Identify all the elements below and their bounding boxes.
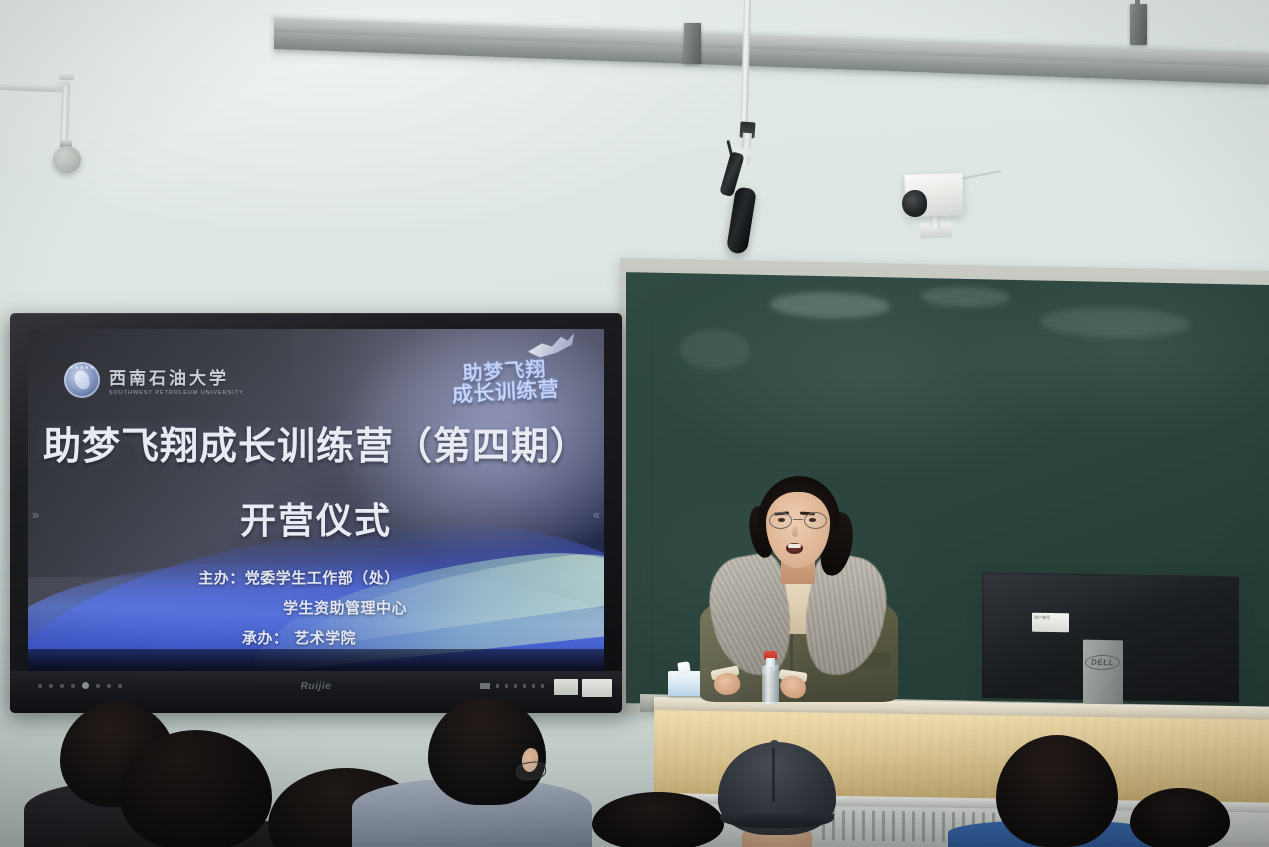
rail-clamp-icon [684,23,701,64]
presenter-mouth [786,543,803,554]
eyeglasses-icon [768,512,828,530]
display-brand-label: Ruijie [301,681,332,692]
rail-clamp-icon [1130,4,1147,45]
slide-prev-marker-icon[interactable]: » [32,507,39,522]
wall-pipe-collar [59,72,74,80]
display-screen[interactable]: ★★★★★ 西南石油大学 SOUTHWEST PETROLEUM UNIVERS… [28,329,604,673]
camera-lens-icon [902,190,928,218]
camp-logo-line2: 成长训练营 [451,379,560,406]
slide-subtitle: 开营仪式 [28,492,604,544]
classroom-photo-scene: 资产编号 DELL [0,0,1269,847]
camp-logo: 助梦飞翔 成长训练营 [428,349,581,415]
slide-next-marker-icon[interactable]: « [593,507,600,522]
monitor-asset-sticker: 资产编号 [1032,613,1069,633]
organizer-line: 承办： 艺术学院 [242,627,390,648]
university-name-block: 西南石油大学 SOUTHWEST PETROLEUM UNIVERSITY [109,364,244,396]
display-asset-sticker [582,679,612,697]
dell-logo-icon: DELL [1087,653,1119,672]
water-bottle-icon [762,665,779,704]
slide-title: 助梦飞翔成长训练营（第四期） [28,425,604,468]
display-control-keys[interactable] [38,682,122,689]
sprinkler-head-icon [53,146,81,173]
slide-organizers: 主办：党委学生工作部（处） 学生资助管理中心 承办： 艺术学院 [28,567,604,648]
university-name-en: SOUTHWEST PETROLEUM UNIVERSITY [109,390,244,396]
monitor-stand [1083,640,1123,706]
presentation-slide: ★★★★★ 西南石油大学 SOUTHWEST PETROLEUM UNIVERS… [28,329,604,673]
university-name-cn: 西南石油大学 [109,364,244,389]
organizer-line: 学生资助管理中心 [225,597,407,618]
university-emblem-icon: ★★★★★ [64,362,100,398]
presenter-nose [792,526,798,537]
display-sticker-secondary [554,679,578,695]
display-ports[interactable] [480,683,544,689]
university-logo: ★★★★★ 西南石油大学 SOUTHWEST PETROLEUM UNIVERS… [64,362,244,398]
emblem-stars: ★★★★★ [64,365,100,371]
organizer-line: 主办：党委学生工作部（处） [198,567,434,588]
interactive-flat-panel[interactable]: ★★★★★ 西南石油大学 SOUTHWEST PETROLEUM UNIVERS… [10,313,622,713]
slide-bottom-band [28,649,604,673]
